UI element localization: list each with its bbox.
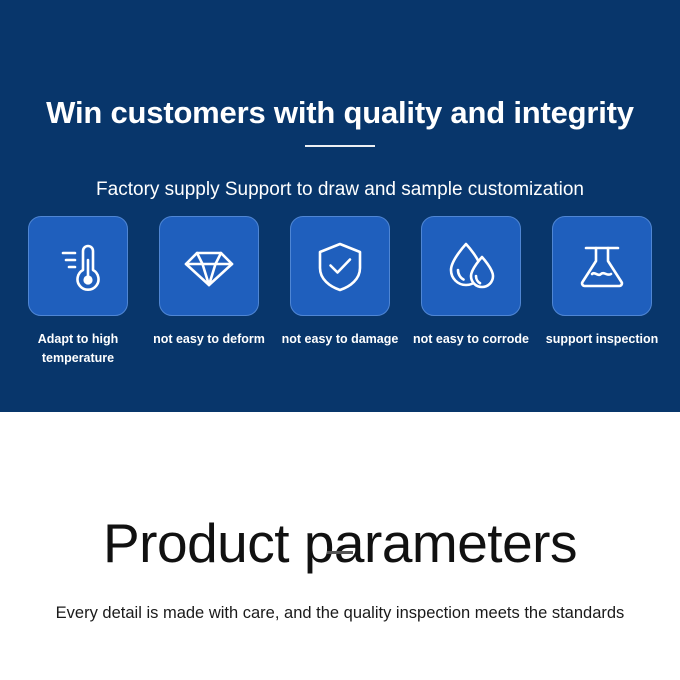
shield-check-icon <box>312 238 368 294</box>
feature-tile <box>552 216 652 316</box>
feature-label: not easy to corrode <box>412 330 530 349</box>
feature-item-not-easy-to-deform[interactable]: not easy to deform <box>159 216 259 349</box>
feature-tile <box>28 216 128 316</box>
feature-item-support-inspection[interactable]: support inspection <box>552 216 652 349</box>
thermometer-icon <box>50 238 106 294</box>
section-title: Product parameters <box>0 510 680 576</box>
feature-item-adapt-to-high-temperature[interactable]: Adapt to high temperature <box>28 216 128 368</box>
promo-banner-page: Win customers with quality and integrity… <box>0 0 680 680</box>
feature-label: Adapt to high temperature <box>31 330 125 368</box>
feature-item-not-easy-to-damage[interactable]: not easy to damage <box>290 216 390 349</box>
feature-item-not-easy-to-corrode[interactable]: not easy to corrode <box>421 216 521 349</box>
feature-label: not easy to damage <box>281 330 399 349</box>
diamond-icon <box>181 238 237 294</box>
water-drops-icon <box>443 238 499 294</box>
hero-subtitle: Factory supply Support to draw and sampl… <box>0 177 680 203</box>
feature-label: support inspection <box>543 330 661 349</box>
section-divider <box>327 551 353 554</box>
flask-icon <box>574 238 630 294</box>
feature-list: Adapt to high temperature not easy to de… <box>28 216 652 386</box>
hero-divider <box>305 145 375 147</box>
section-subtitle: Every detail is made with care, and the … <box>0 601 680 625</box>
feature-tile <box>421 216 521 316</box>
feature-label: not easy to deform <box>150 330 268 349</box>
hero-title: Win customers with quality and integrity <box>0 93 680 133</box>
feature-tile <box>290 216 390 316</box>
hero-section: Win customers with quality and integrity… <box>0 0 680 412</box>
feature-tile <box>159 216 259 316</box>
product-parameters-section: Product parameters Every detail is made … <box>0 412 680 680</box>
